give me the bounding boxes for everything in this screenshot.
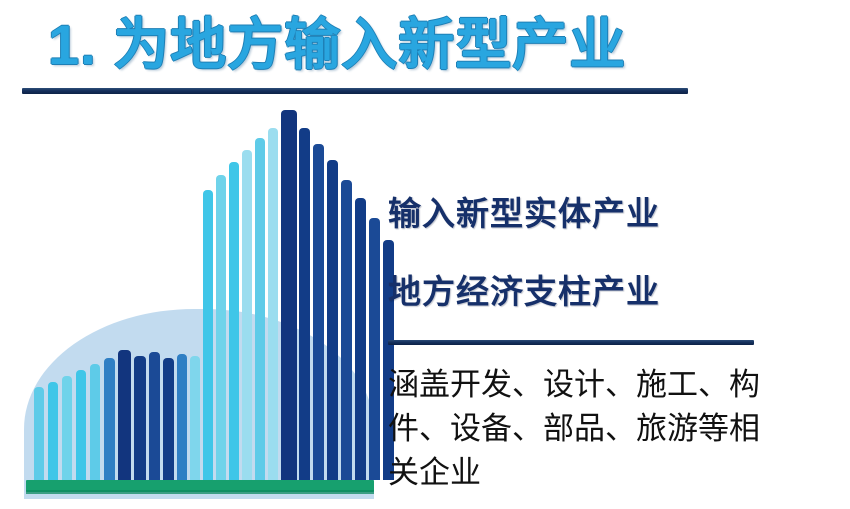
skyline-bar (327, 160, 338, 480)
ground-shadow (26, 490, 374, 494)
skyline-bar (62, 376, 72, 480)
headline-primary: 输入新型实体产业 (388, 190, 828, 238)
skyline-bar (48, 382, 58, 480)
content-divider (388, 340, 754, 345)
skyline-bar (299, 128, 310, 480)
skyline-bar (313, 144, 324, 480)
slide-root: 1. 为地方输入新型产业 输入新型实体产业 地方经济支柱产业 涵盖开发、设计、施… (0, 0, 850, 509)
skyline-bar (369, 218, 380, 480)
skyline-bar (163, 358, 174, 480)
skyline-bar (34, 387, 44, 480)
city-skyline-illustration (18, 104, 378, 504)
skyline-bar (104, 358, 115, 480)
skyline-bar (190, 356, 200, 480)
skyline-bar (149, 352, 160, 480)
skyline-bar (229, 162, 239, 480)
title-divider (22, 88, 688, 94)
skyline-bar (341, 180, 352, 480)
body-paragraph: 涵盖开发、设计、施工、构件、设备、部品、旅游等相关企业 (388, 363, 768, 495)
skyline-bar (90, 364, 100, 480)
skyline-bar (76, 370, 86, 480)
skyline-bar (177, 354, 187, 480)
skyline-bar (118, 350, 131, 480)
skyline-bar (268, 128, 278, 480)
skyline-bar (255, 138, 265, 480)
skyline-bar (203, 190, 213, 480)
title-block: 1. 为地方输入新型产业 (0, 0, 850, 100)
headline-secondary: 地方经济支柱产业 (388, 268, 828, 316)
skyline-bar (242, 150, 252, 480)
skyline-bar (281, 110, 297, 480)
skyline-bar (216, 175, 226, 480)
page-title: 1. 为地方输入新型产业 (48, 8, 626, 82)
skyline-bar (355, 198, 366, 480)
content-column: 输入新型实体产业 地方经济支柱产业 涵盖开发、设计、施工、构件、设备、部品、旅游… (388, 190, 828, 495)
skyline-bar (134, 356, 146, 480)
